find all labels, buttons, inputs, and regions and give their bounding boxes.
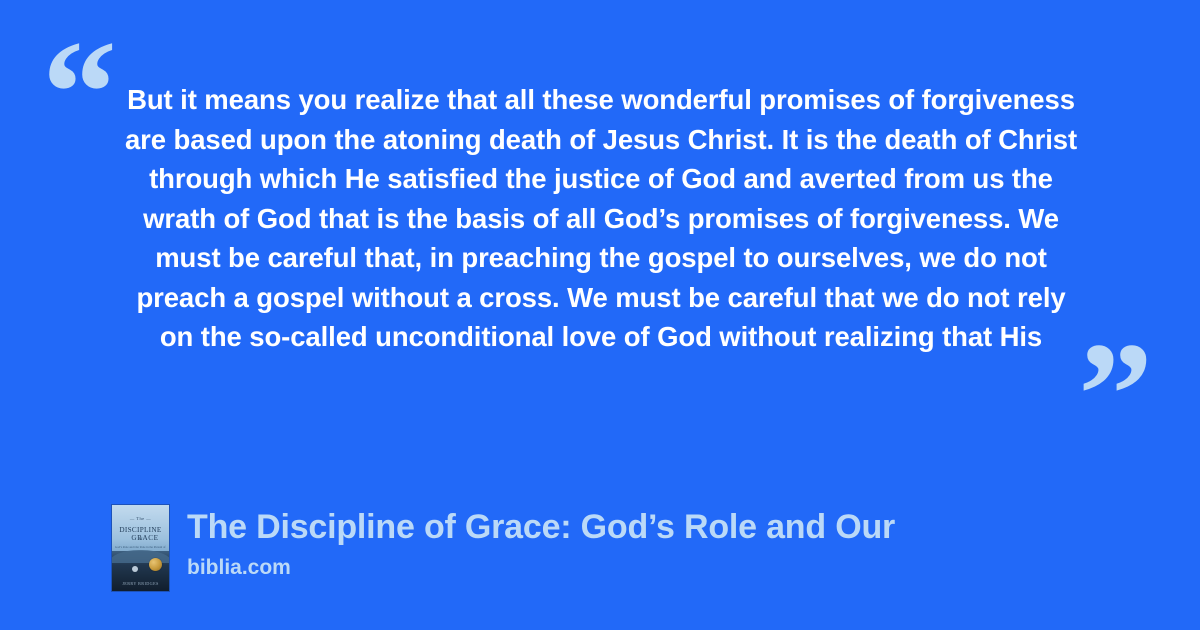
book-cover-title-line1: DISCIPLINE	[112, 526, 169, 534]
quote-card: “ But it means you realize that all thes…	[0, 0, 1200, 630]
book-cover-title-line2: GRACE	[112, 534, 169, 542]
book-cover-the: — The —	[112, 516, 169, 521]
book-cover-subtitle: God’s Role and Our Role in the Pursuit o…	[115, 545, 166, 549]
footer-attribution: — The — DISCIPLINE of GRACE God’s Role a…	[112, 505, 895, 591]
quote-text: But it means you realize that all these …	[118, 80, 1084, 357]
opening-quote-icon: “	[42, 18, 117, 168]
footer-text-block: The Discipline of Grace: God’s Role and …	[187, 505, 895, 581]
book-title: The Discipline of Grace: God’s Role and …	[187, 507, 895, 547]
book-cover-thumbnail: — The — DISCIPLINE of GRACE God’s Role a…	[112, 505, 169, 591]
site-name: biblia.com	[187, 555, 895, 581]
book-cover-author: JERRY BRIDGES	[112, 581, 169, 586]
closing-quote-icon: ”	[1078, 320, 1153, 470]
book-cover-seal-icon	[149, 558, 162, 571]
book-cover-moon	[132, 566, 138, 572]
